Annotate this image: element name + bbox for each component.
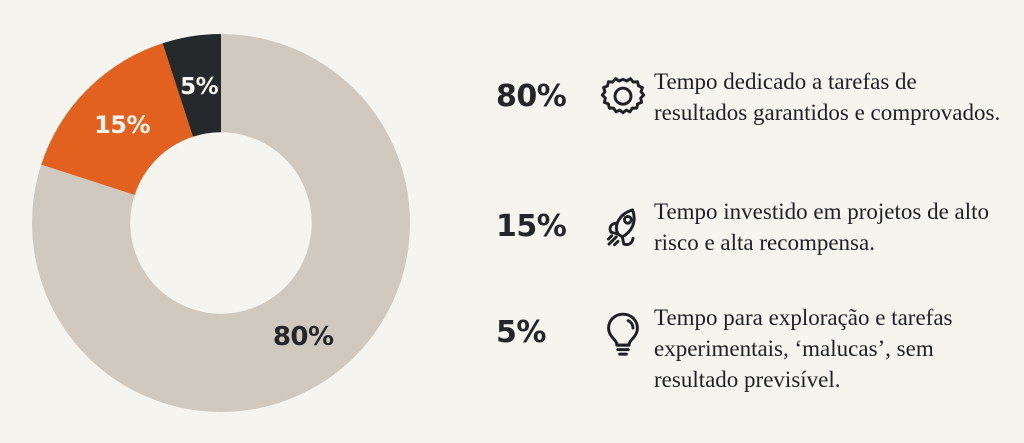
legend-description-15: Tempo investido em projetos de alto risc… [654,190,1004,258]
legend-percent-5: 5% [496,296,592,348]
legend: 80% Tempo dedicado a tarefas de resultad… [496,0,1024,443]
lightbulb-icon [592,296,654,362]
gear-icon [592,60,654,126]
donut-chart: 80% 15% 5% [0,0,470,443]
infographic-root: 80% 15% 5% 80% Tempo dedicado a tarefas … [0,0,1024,443]
legend-percent-15: 15% [496,190,592,242]
legend-description-5: Tempo para exploração e tarefas experime… [654,296,1004,395]
legend-item-80[interactable]: 80% Tempo dedicado a tarefas de resultad… [496,60,1024,128]
donut-label-80: 80% [273,322,334,352]
legend-item-15[interactable]: 15% Tempo investido em projeto [496,190,1024,258]
legend-description-80: Tempo dedicado a tarefas de resultados g… [654,60,1004,128]
donut-label-5: 5% [180,74,219,100]
rocket-icon [592,190,654,256]
legend-percent-80: 80% [496,60,592,112]
donut-label-15: 15% [94,111,150,139]
legend-item-5[interactable]: 5% Tempo para exploração e tarefas exper… [496,296,1024,395]
donut-chart-svg: 80% 15% 5% [0,0,470,443]
